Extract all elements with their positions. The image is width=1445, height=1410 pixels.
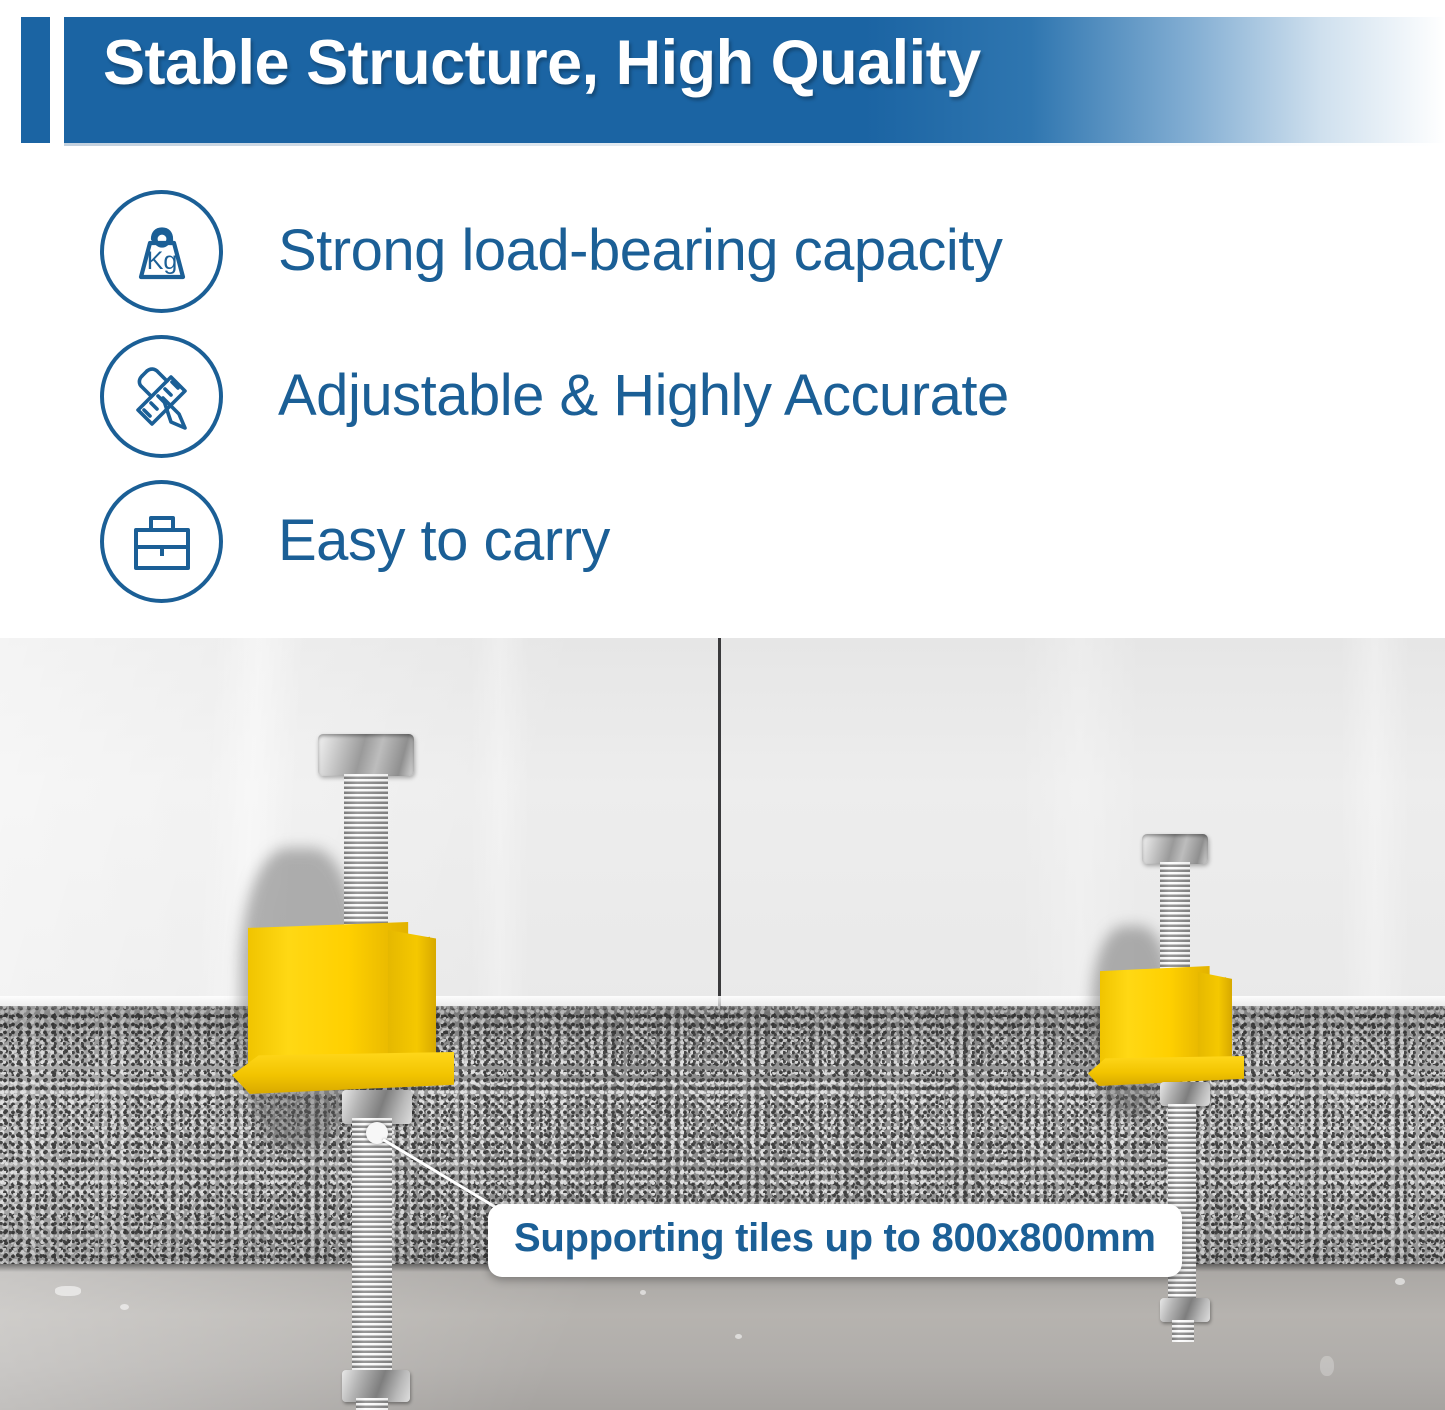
tile-sheen	[1340, 638, 1410, 1010]
photo-caption: Supporting tiles up to 800x800mm	[488, 1204, 1182, 1277]
toolbox-icon	[100, 480, 223, 603]
tile-leveling-clamp-right	[1080, 816, 1310, 1396]
header-accent-bar	[21, 17, 50, 143]
bolt-nut-lower	[1160, 1298, 1210, 1322]
bolt-shaft-lower	[352, 1118, 392, 1378]
header-banner: Stable Structure, High Quality	[0, 0, 1445, 150]
bolt-head	[318, 734, 414, 776]
bolt-shaft-upper	[1160, 862, 1190, 972]
photo-caption-text: Supporting tiles up to 800x800mm	[514, 1216, 1156, 1260]
clamp-step	[1198, 972, 1232, 1070]
tile-grout-line	[718, 638, 721, 1010]
feature-label: Easy to carry	[278, 511, 610, 572]
bolt-shaft-foot	[1172, 1320, 1194, 1342]
bolt-shaft-foot	[356, 1398, 388, 1410]
feature-label: Adjustable & Highly Accurate	[278, 366, 1009, 427]
svg-text:Kg: Kg	[146, 247, 177, 275]
weight-kg-icon: Kg	[100, 190, 223, 313]
feature-item-adjustable: Adjustable & Highly Accurate	[100, 335, 1009, 458]
product-photo: Supporting tiles up to 800x800mm	[0, 638, 1445, 1410]
clamp-step	[388, 930, 436, 1072]
tile-leveling-clamp-left	[220, 698, 540, 1410]
bolt-shaft-upper	[344, 774, 388, 929]
bolt-nut	[1160, 1082, 1210, 1106]
page-title: Stable Structure, High Quality	[103, 32, 981, 95]
feature-label: Strong load-bearing capacity	[278, 221, 1002, 282]
feature-item-load-bearing: Kg Strong load-bearing capacity	[100, 190, 1002, 313]
ruler-pencil-icon	[100, 335, 223, 458]
product-feature-page: Stable Structure, High Quality Kg Strong…	[0, 0, 1445, 1410]
clamp-base-flange	[232, 1052, 454, 1094]
feature-item-easy-carry: Easy to carry	[100, 480, 610, 603]
bolt-head	[1142, 834, 1208, 864]
feature-list: Kg Strong load-bearing capacity	[0, 178, 1445, 633]
